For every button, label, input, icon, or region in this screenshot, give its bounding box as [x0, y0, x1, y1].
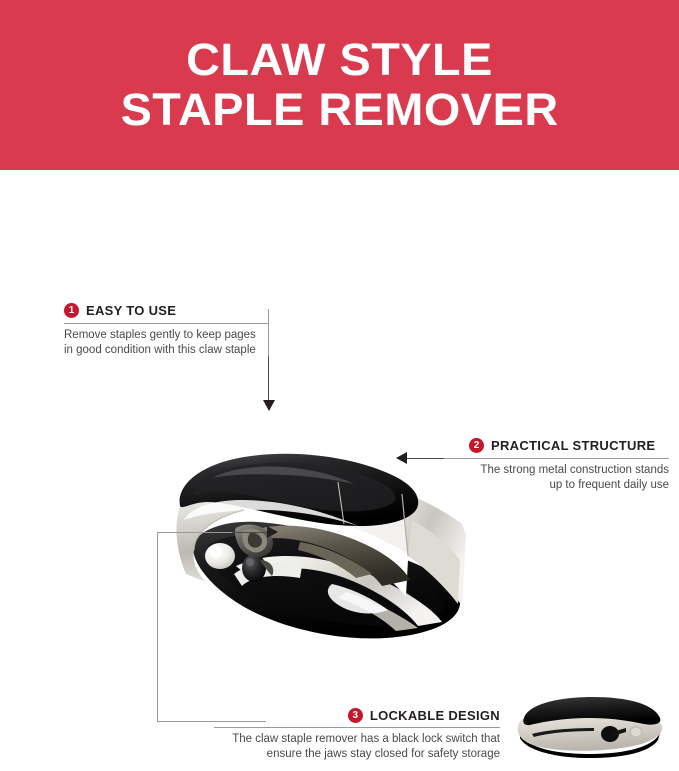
callout-2-body-line-1: The strong metal construction stands	[444, 463, 669, 478]
callout-3-leader-line	[232, 532, 270, 533]
callout-2-title: PRACTICAL STRUCTURE	[491, 438, 655, 453]
callout-3-leader-box	[157, 532, 266, 722]
callout-3-header: 3 LOCKABLE DESIGN	[214, 708, 500, 723]
callout-1-body: Remove staples gently to keep pages in g…	[64, 324, 269, 357]
callout-1-body-line-1: Remove staples gently to keep pages	[64, 328, 269, 343]
product-inset-image	[512, 692, 672, 762]
callout-1-header: 1 EASY TO USE	[64, 303, 269, 318]
banner-title-line-2: STAPLE REMOVER	[120, 85, 558, 135]
callout-3-body-line-1: The claw staple remover has a black lock…	[214, 732, 500, 747]
callout-2-body-line-2: up to frequent daily use	[444, 478, 669, 493]
callout-2-body: The strong metal construction stands up …	[444, 459, 669, 492]
callout-1-arrow-icon	[263, 400, 275, 411]
infographic-page: CLAW STYLE STAPLE REMOVER	[0, 0, 679, 771]
callout-practical-structure: 2 PRACTICAL STRUCTURE The strong metal c…	[444, 438, 679, 492]
callout-3-body: The claw staple remover has a black lock…	[214, 728, 500, 761]
callout-2-arrow-icon	[396, 452, 407, 464]
callout-3-arrow-icon	[267, 526, 278, 538]
callout-1-number-badge: 1	[64, 303, 79, 318]
callout-3-title: LOCKABLE DESIGN	[370, 708, 500, 723]
callout-2-number-badge: 2	[469, 438, 484, 453]
callout-1-title: EASY TO USE	[86, 303, 176, 318]
callout-easy-to-use: 1 EASY TO USE Remove staples gently to k…	[64, 303, 269, 357]
callout-3-number-badge: 3	[348, 708, 363, 723]
banner-title-line-1: CLAW STYLE	[186, 35, 493, 85]
header-banner: CLAW STYLE STAPLE REMOVER	[0, 0, 679, 170]
callout-1-body-line-2: in good condition with this claw staple	[64, 343, 269, 358]
callout-3-body-line-2: ensure the jaws stay closed for safety s…	[214, 747, 500, 762]
callout-lockable-design: 3 LOCKABLE DESIGN The claw staple remove…	[214, 708, 500, 761]
callout-2-header: 2 PRACTICAL STRUCTURE	[444, 438, 669, 453]
callout-1-leader-line	[268, 356, 269, 404]
